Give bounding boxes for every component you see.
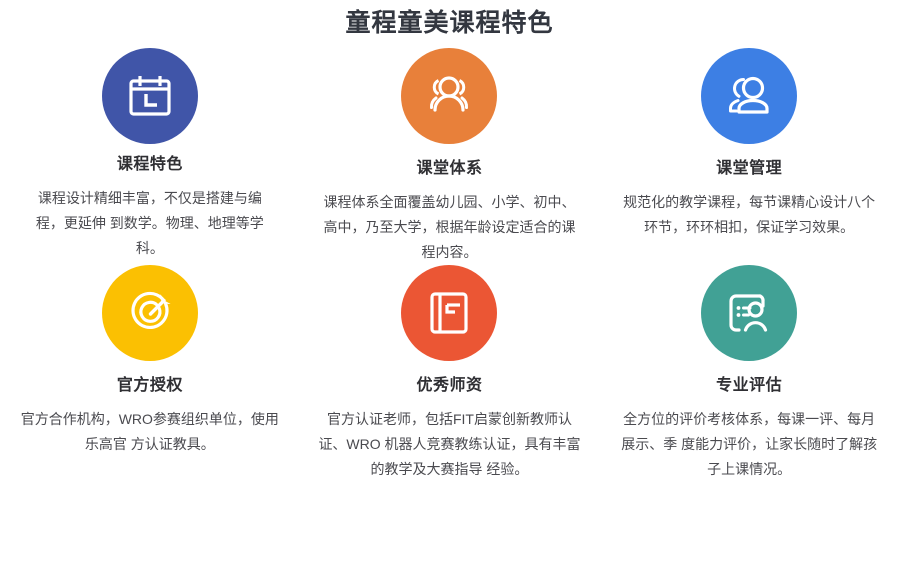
feature-card-title: 课堂管理 <box>716 158 782 180</box>
feature-card-description: 全方位的评价考核体系，每课一评、每月展示、季 度能力评价，让家长随时了解孩子上课… <box>617 407 881 482</box>
target-arrow-icon <box>123 286 177 340</box>
feature-card-classroom-system[interactable]: 课堂体系 课程体系全面覆盖幼儿园、小学、初中、高中，乃至大学，根据年龄设定适合的… <box>300 48 600 265</box>
book-icon <box>423 287 475 339</box>
feature-card-title: 优秀师资 <box>416 375 482 397</box>
page-title: 童程童美课程特色 <box>0 0 899 40</box>
feature-card-title: 课堂体系 <box>416 158 482 180</box>
feature-card-official-authorization[interactable]: 官方授权 官方合作机构，WRO参赛组织单位，使用乐高官 方认证教具。 <box>0 265 300 482</box>
feature-icon-wrapper <box>401 265 497 361</box>
feature-card-title: 课程特色 <box>117 154 183 176</box>
course-features-page: 童程童美课程特色 课程特色 课程设计精细丰富，不仅是搭建与编程，更延伸 到数学。… <box>0 0 899 585</box>
feature-icon-wrapper <box>102 48 198 144</box>
feature-card-description: 规范化的教学课程，每节课精心设计八个环节，环环相扣，保证学习效果。 <box>617 190 881 240</box>
feature-card-classroom-management[interactable]: 课堂管理 规范化的教学课程，每节课精心设计八个环节，环环相扣，保证学习效果。 <box>599 48 899 265</box>
feature-card-description: 课程设计精细丰富，不仅是搭建与编程，更延伸 到数学。物理、地理等学科。 <box>26 186 274 261</box>
feature-icon-wrapper <box>401 48 497 144</box>
feature-card-description: 课程体系全面覆盖幼儿园、小学、初中、高中，乃至大学，根据年龄设定适合的课程内容。 <box>318 190 582 265</box>
feature-card-course-features[interactable]: 课程特色 课程设计精细丰富，不仅是搭建与编程，更延伸 到数学。物理、地理等学科。 <box>0 48 300 265</box>
feature-icon-wrapper <box>701 265 797 361</box>
feature-card-professional-assessment[interactable]: 专业评估 全方位的评价考核体系，每课一评、每月展示、季 度能力评价，让家长随时了… <box>599 265 899 482</box>
two-users-icon <box>722 69 776 123</box>
user-group-icon <box>422 69 476 123</box>
feature-icon-wrapper <box>701 48 797 144</box>
feature-card-description: 官方认证老师，包括FIT启蒙创新教师认证、WRO 机器人竞赛教练认证，具有丰富的… <box>318 407 582 482</box>
feature-card-title: 官方授权 <box>117 375 183 397</box>
calendar-clock-icon <box>124 70 176 122</box>
id-card-person-icon <box>722 286 776 340</box>
feature-card-title: 专业评估 <box>716 375 782 397</box>
feature-card-grid: 课程特色 课程设计精细丰富，不仅是搭建与编程，更延伸 到数学。物理、地理等学科。… <box>0 40 899 482</box>
feature-card-excellent-teachers[interactable]: 优秀师资 官方认证老师，包括FIT启蒙创新教师认证、WRO 机器人竞赛教练认证，… <box>300 265 600 482</box>
feature-card-description: 官方合作机构，WRO参赛组织单位，使用乐高官 方认证教具。 <box>18 407 282 457</box>
feature-icon-wrapper <box>102 265 198 361</box>
